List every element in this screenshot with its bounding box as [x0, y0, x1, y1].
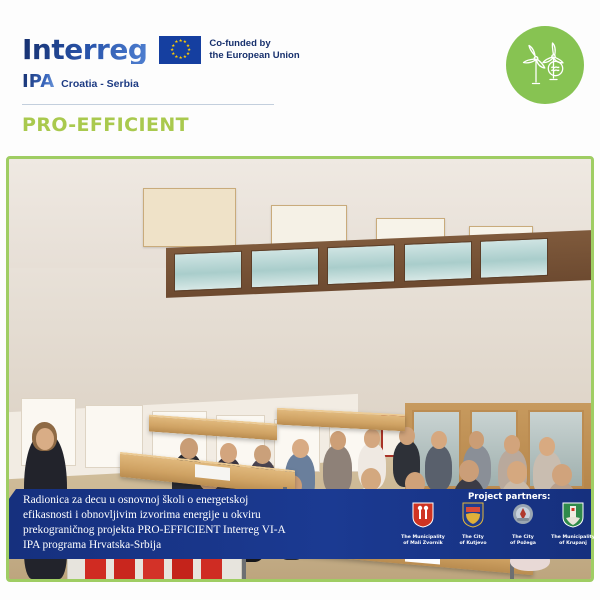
- interreg-logo-block: Interreg ★★★★★★★★★★★★ Co-funded by the E…: [22, 36, 300, 91]
- wind-turbine-badge: [506, 26, 584, 104]
- window-pane: [251, 247, 319, 288]
- crest-kutjevo-icon: [462, 502, 484, 528]
- crest-mali-zvornik-icon: [412, 502, 434, 528]
- student-head: [254, 445, 271, 464]
- partner-pozega: The City of Požega: [500, 502, 546, 547]
- crest-pozega-icon: [512, 502, 534, 528]
- eu-star-icon: ★: [179, 56, 182, 59]
- student: [323, 445, 352, 495]
- project-partners-title: Project partners:: [468, 492, 550, 502]
- partner-krupanj: The Municipality of Krupanj: [550, 502, 596, 547]
- student-head: [507, 461, 527, 484]
- caption-line: Radionica za decu u osnovnoj školi o ene…: [23, 493, 353, 508]
- header-divider: [22, 104, 274, 105]
- partner-kutjevo: The City of Kutjevo: [450, 502, 496, 547]
- eu-star-icon: ★: [179, 39, 182, 42]
- eu-cofunded-text: Co-funded by the European Union: [209, 38, 299, 62]
- window-pane: [175, 251, 243, 292]
- teacher-head: [36, 428, 55, 450]
- eu-cofunded-line2: the European Union: [209, 50, 299, 62]
- eu-flag-icon: ★★★★★★★★★★★★: [159, 36, 201, 64]
- eu-emblem: ★★★★★★★★★★★★ Co-funded by the European U…: [159, 36, 299, 64]
- ipa-row: IPA Croatia - Serbia: [22, 73, 300, 91]
- student-head: [220, 443, 237, 463]
- poster-header: Interreg ★★★★★★★★★★★★ Co-funded by the E…: [0, 0, 600, 155]
- eu-cofunded-line1: Co-funded by: [209, 38, 299, 50]
- student-head: [330, 431, 346, 449]
- student-head: [504, 435, 520, 453]
- ceiling-poster: [143, 188, 236, 247]
- eu-star-icon: ★: [170, 48, 173, 51]
- partner-label: The City of Požega: [500, 535, 546, 547]
- partner-label: The Municipality of Mali Zvornik: [400, 535, 446, 547]
- eu-star-icon: ★: [171, 52, 174, 55]
- ipa-wordmark: IPA: [22, 73, 54, 91]
- partner-label: The City of Kutjevo: [450, 535, 496, 547]
- eu-star-icon: ★: [183, 55, 186, 58]
- crest-krupanj-icon: [562, 502, 584, 528]
- wind-turbine-icon: [517, 37, 573, 93]
- caption-line: efikasnosti i obnovljivim izvorima energ…: [23, 508, 353, 523]
- page-title: PRO-EFFICIENT: [22, 114, 189, 136]
- eu-star-icon: ★: [174, 40, 177, 43]
- interreg-wordmark: Interreg: [22, 36, 147, 64]
- student-head: [292, 439, 309, 458]
- window-pane: [481, 238, 549, 279]
- student-head: [459, 460, 479, 482]
- caption-line: IPA programa Hrvatska-Srbija: [23, 538, 353, 553]
- window-pane: [404, 241, 472, 282]
- poster-canvas: Interreg ★★★★★★★★★★★★ Co-funded by the E…: [0, 0, 600, 600]
- desk-leg: [242, 558, 246, 579]
- partner-mali-zvornik: The Municipality of Mali Zvornik: [400, 502, 446, 547]
- project-partners-list: The Municipality of Mali Zvornik The Cit…: [400, 502, 596, 547]
- caption-line: prekograničnog projekta PRO-EFFICIENT In…: [23, 523, 353, 538]
- student: [425, 445, 452, 491]
- student-head: [431, 431, 447, 449]
- student-head: [364, 429, 380, 447]
- partner-label: The Municipality of Krupanj: [550, 535, 596, 547]
- interreg-row: Interreg ★★★★★★★★★★★★ Co-funded by the E…: [22, 36, 300, 64]
- ipa-subtitle: Croatia - Serbia: [61, 78, 139, 90]
- student-head: [539, 437, 555, 455]
- student-head: [552, 464, 572, 486]
- window-pane: [328, 244, 396, 285]
- caption-text: Radionica za decu u osnovnoj školi o ene…: [23, 493, 353, 553]
